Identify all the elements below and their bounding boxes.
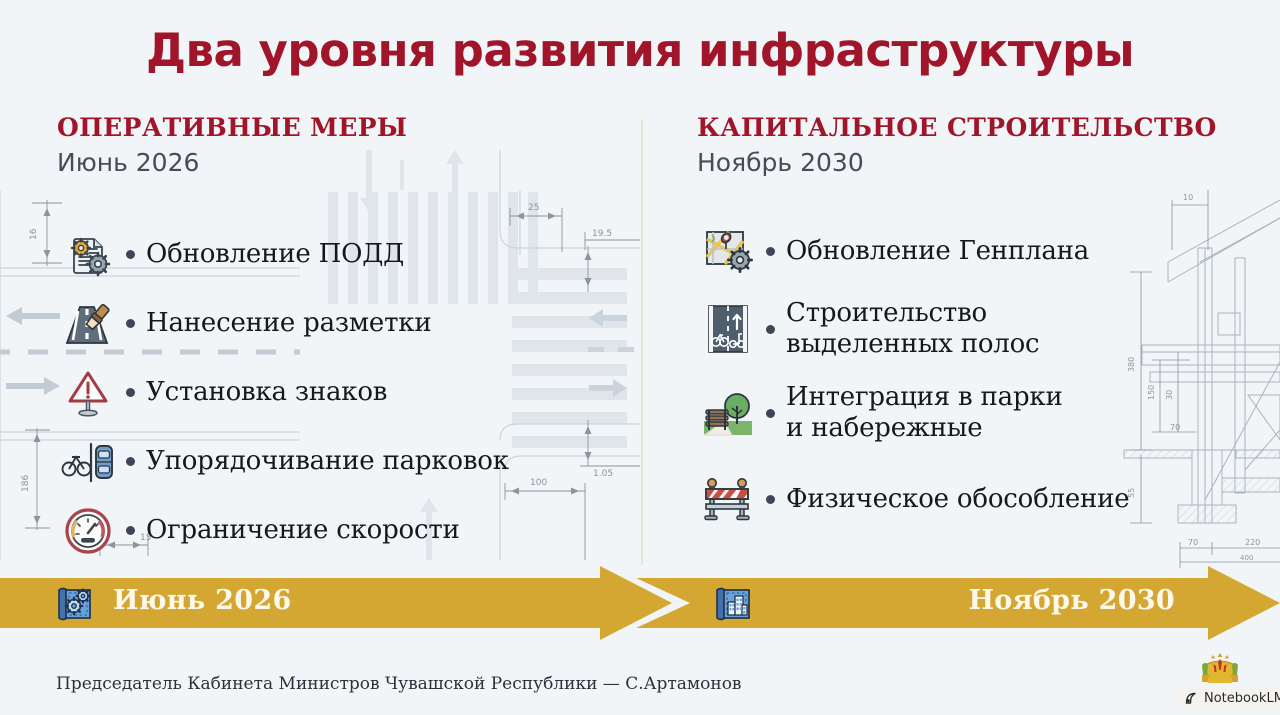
- list-item-label: Строительство выделенных полос: [786, 298, 1039, 359]
- lane-direction-arrows-left: [6, 307, 60, 395]
- dimension-label: 10: [1183, 193, 1193, 202]
- page-title: Два уровня развития инфраструктуры: [0, 24, 1280, 77]
- bullet-dot: [126, 319, 135, 328]
- bullet-dot: [126, 457, 135, 466]
- list-item[interactable]: Обновление Генплана: [697, 220, 1257, 282]
- list-item-label: Интеграция в парки и набережные: [786, 382, 1063, 443]
- list-item[interactable]: Строительство выделенных полос: [697, 298, 1257, 360]
- list-item-label: Установка знаков: [146, 377, 387, 408]
- blueprint-buildings-icon: [710, 582, 754, 626]
- list-item[interactable]: Установка знаков: [57, 358, 637, 427]
- dimension-186: [25, 428, 50, 530]
- dimension-label: 25: [528, 203, 539, 213]
- timeline-arrow-first: [0, 566, 672, 640]
- dimension-label: 400: [1240, 554, 1253, 562]
- bullet-dot: [766, 325, 775, 334]
- list-item[interactable]: Упорядочивание парковок: [57, 427, 637, 496]
- list-item-label: Упорядочивание парковок: [146, 446, 509, 477]
- bullet-dot: [126, 388, 135, 397]
- list-item-label: Ограничение скорости: [146, 515, 460, 546]
- bullet-dot: [766, 409, 775, 418]
- park-bench-tree-icon: [697, 382, 759, 444]
- dedicated-lane-icon: [697, 298, 759, 360]
- list-item-label: Нанесение разметки: [146, 308, 431, 339]
- speed-limit-gauge-icon: [57, 500, 119, 562]
- notebooklm-logo-icon: [1184, 691, 1199, 706]
- dimension-label: 16: [29, 228, 39, 240]
- slide-root: 16 186 15: [0, 0, 1280, 715]
- column-divider: [641, 120, 643, 565]
- right-column-subheading: Ноябрь 2030: [697, 150, 1257, 175]
- list-item[interactable]: Нанесение разметки: [57, 289, 637, 358]
- right-column: КАПИТАЛЬНОЕ СТРОИТЕЛЬСТВО Ноябрь 2030: [697, 115, 1257, 175]
- map-gear-icon: [697, 220, 759, 282]
- list-item[interactable]: Интеграция в парки и набережные: [697, 382, 1257, 444]
- list-item-label: Обновление Генплана: [786, 236, 1089, 267]
- chuvashia-coat-of-arms-icon: [1196, 651, 1244, 687]
- list-item-label: Физическое обособление: [786, 484, 1130, 515]
- list-item[interactable]: Обновление ПОДД: [57, 220, 637, 289]
- list-item[interactable]: Физическое обособление: [697, 468, 1257, 530]
- bullet-dot: [766, 495, 775, 504]
- list-item[interactable]: Ограничение скорости: [57, 496, 637, 565]
- document-gears-icon: [57, 224, 119, 286]
- bullet-dot: [766, 247, 775, 256]
- notebooklm-label: NotebookLM: [1204, 691, 1280, 706]
- left-column: ОПЕРАТИВНЫЕ МЕРЫ Июнь 2026: [57, 115, 637, 175]
- timeline-start-label: Июнь 2026: [113, 585, 292, 616]
- timeline-banner: Июнь 2026: [0, 566, 1280, 640]
- blueprint-gears-icon: [52, 582, 96, 626]
- notebooklm-watermark: NotebookLM: [1176, 687, 1280, 709]
- bicycle-car-parking-icon: [57, 431, 119, 493]
- list-item-label: Обновление ПОДД: [146, 239, 404, 270]
- right-column-list: Обновление Генплана: [697, 220, 1257, 530]
- bullet-dot: [126, 250, 135, 259]
- left-column-heading: ОПЕРАТИВНЫЕ МЕРЫ: [57, 115, 637, 141]
- timeline-end-label: Ноябрь 2030: [968, 585, 1175, 616]
- left-column-subheading: Июнь 2026: [57, 150, 637, 175]
- left-column-list: Обновление ПОДД: [57, 220, 637, 565]
- road-paintbrush-icon: [57, 293, 119, 355]
- dimension-label: 186: [21, 475, 31, 492]
- bullet-dot: [126, 526, 135, 535]
- footer-attribution: Председатель Кабинета Министров Чувашско…: [56, 674, 742, 694]
- warning-road-sign-icon: [57, 362, 119, 424]
- road-barrier-icon: [697, 468, 759, 530]
- right-column-heading: КАПИТАЛЬНОЕ СТРОИТЕЛЬСТВО: [697, 115, 1257, 141]
- dimension-label: 220: [1245, 538, 1260, 547]
- dimension-label: 70: [1188, 538, 1198, 547]
